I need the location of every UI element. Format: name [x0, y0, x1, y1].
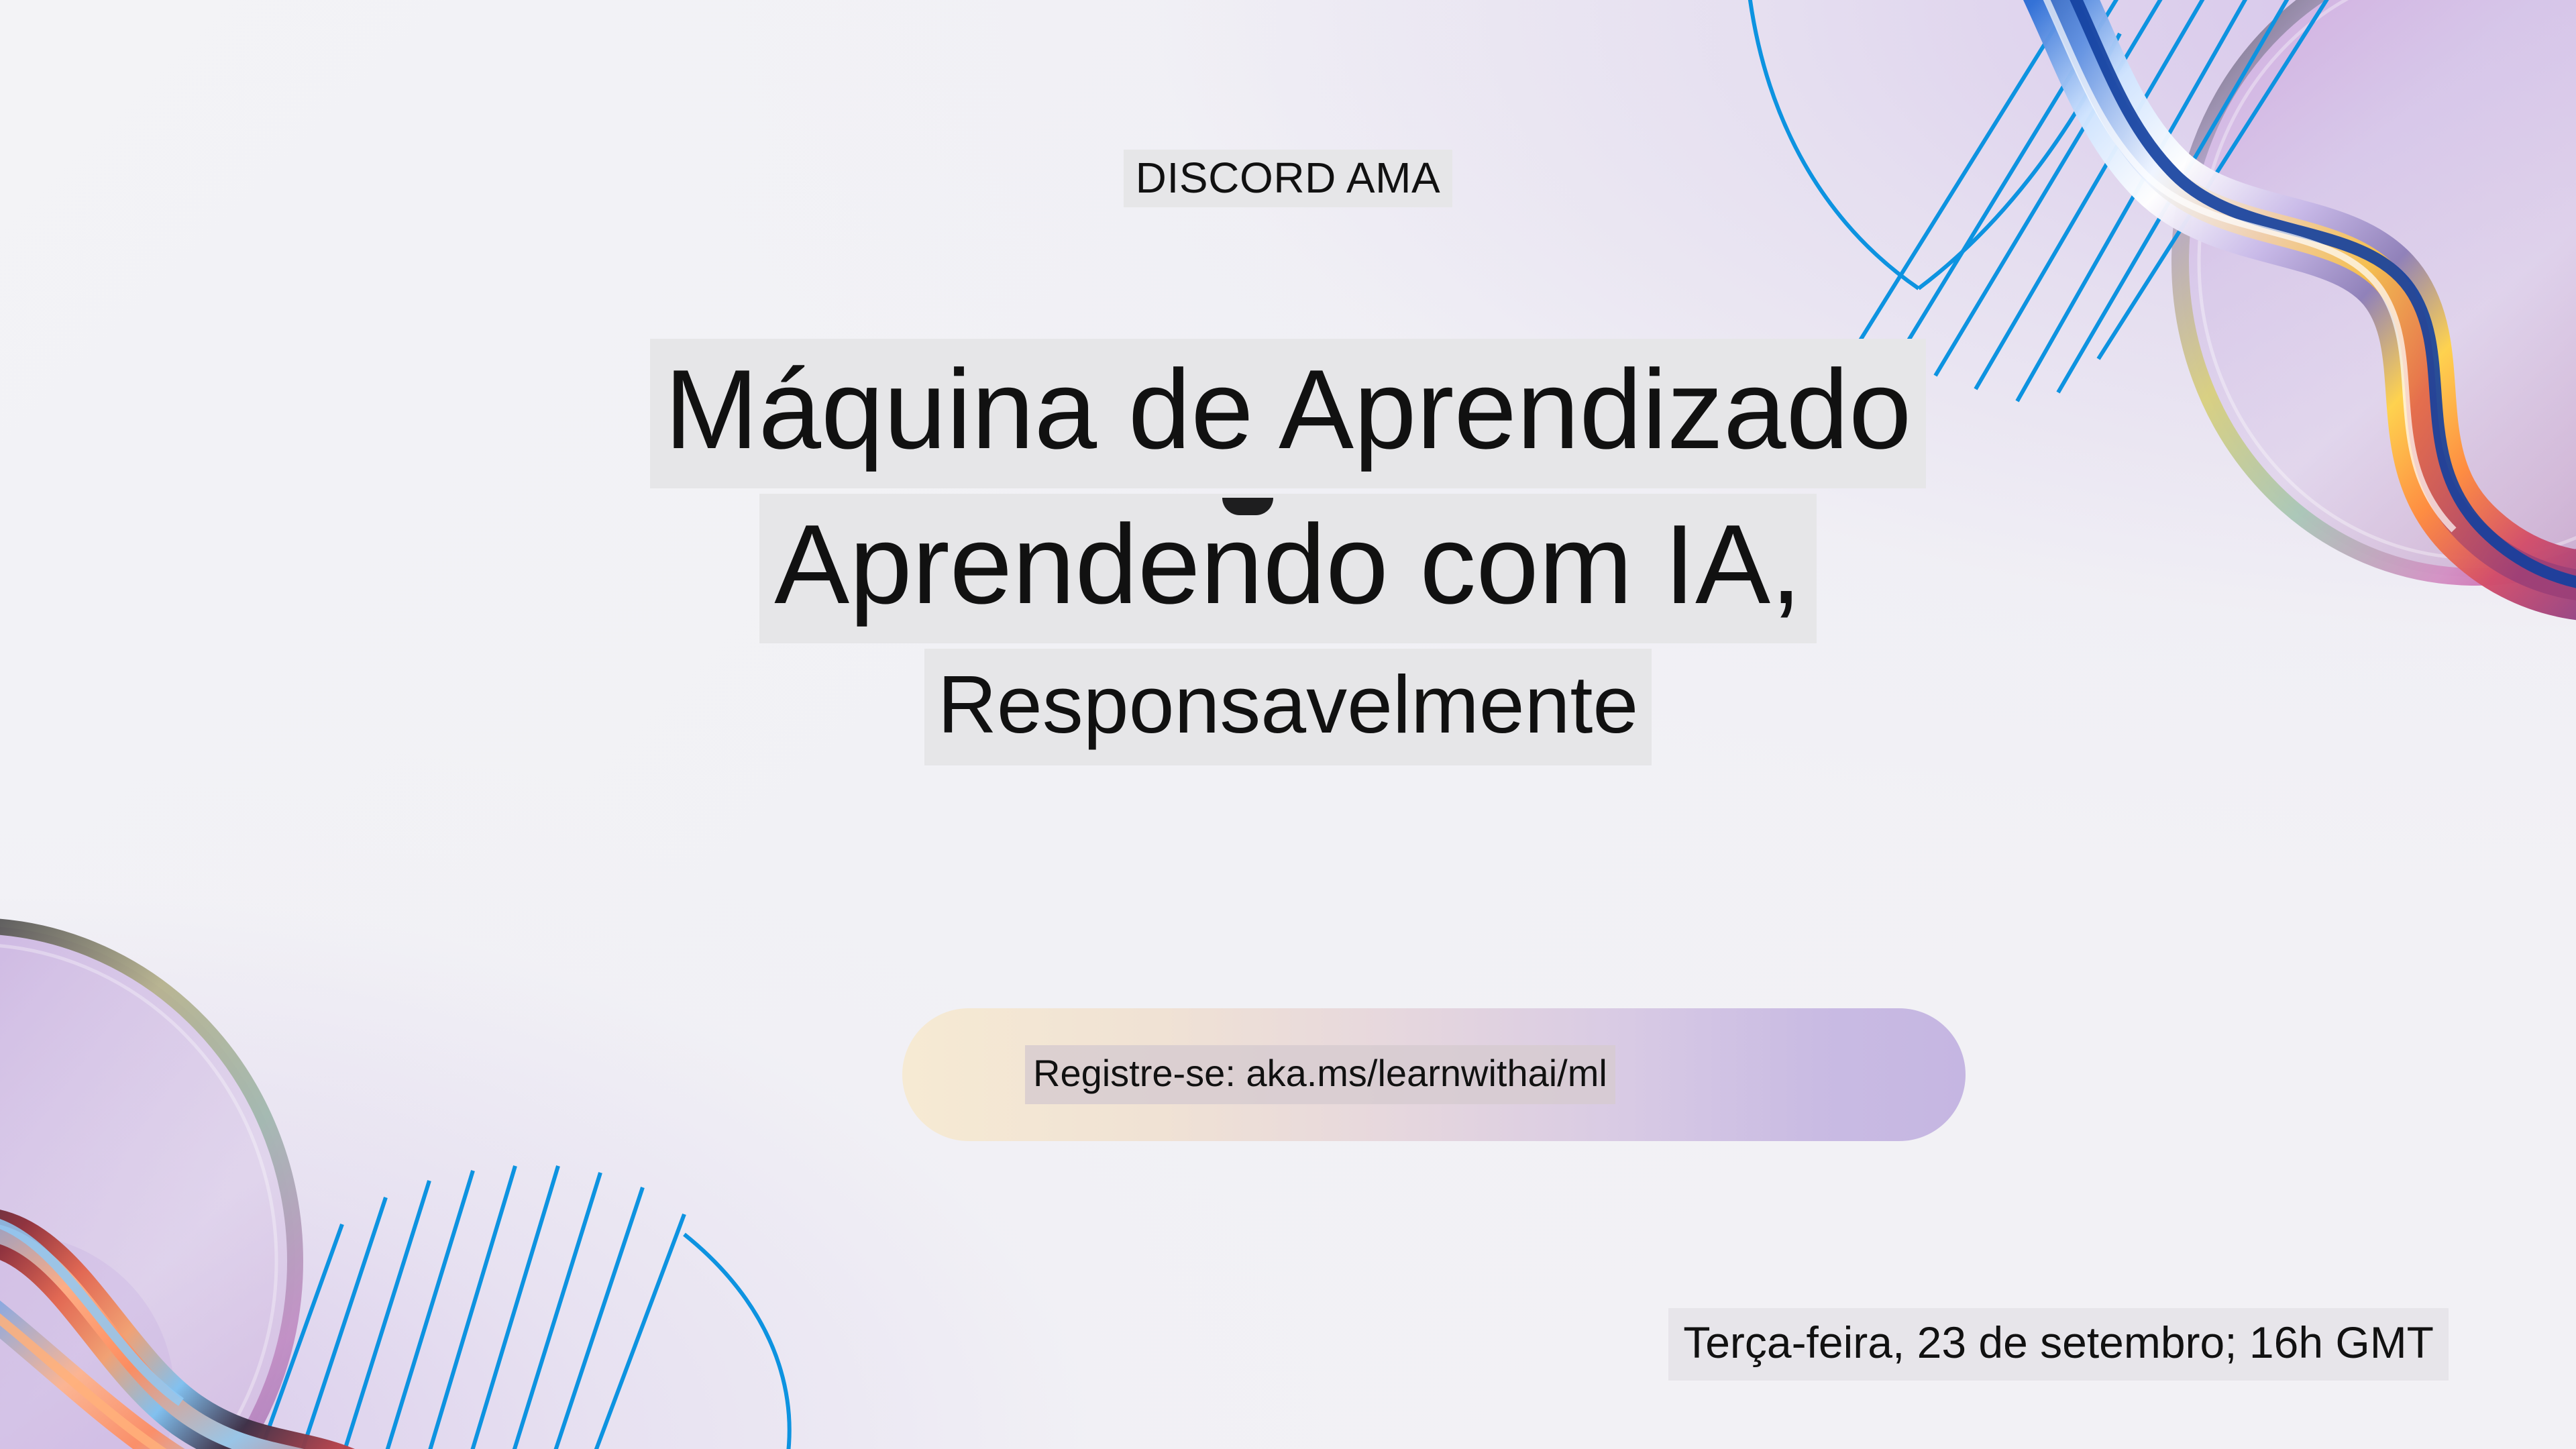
event-datetime-label: Terça-feira, 23 de setembro; 16h GMT — [1668, 1308, 2449, 1381]
headline-line-3: Responsavelmente — [924, 649, 1652, 765]
headline-line-1: Máquina de Aprendizado — [650, 339, 1927, 488]
register-cta-button[interactable]: Registre-se: aka.ms/learnwithai/ml — [902, 1008, 1966, 1141]
event-datetime-row: Terça-feira, 23 de setembro; 16h GMT — [1668, 1320, 2449, 1364]
eyebrow-row: DISCORD AMA — [0, 150, 2576, 207]
promo-poster: DISCORD AMA Máquina de Aprendizado Apren… — [0, 0, 2576, 1449]
eyebrow-label: DISCORD AMA — [1124, 150, 1453, 207]
headline-line-3-row: Responsavelmente — [0, 649, 2576, 765]
headline-line-2-row: Aprendendo com IA, — [0, 494, 2576, 643]
poster-content: DISCORD AMA Máquina de Aprendizado Apren… — [0, 0, 2576, 1449]
headline-line-1-row: Máquina de Aprendizado — [0, 339, 2576, 488]
headline-line-2: Aprendendo com IA, — [759, 494, 1817, 643]
headline-block: Máquina de Aprendizado Aprendendo com IA… — [0, 339, 2576, 765]
register-cta-label: Registre-se: aka.ms/learnwithai/ml — [1025, 1045, 1615, 1104]
